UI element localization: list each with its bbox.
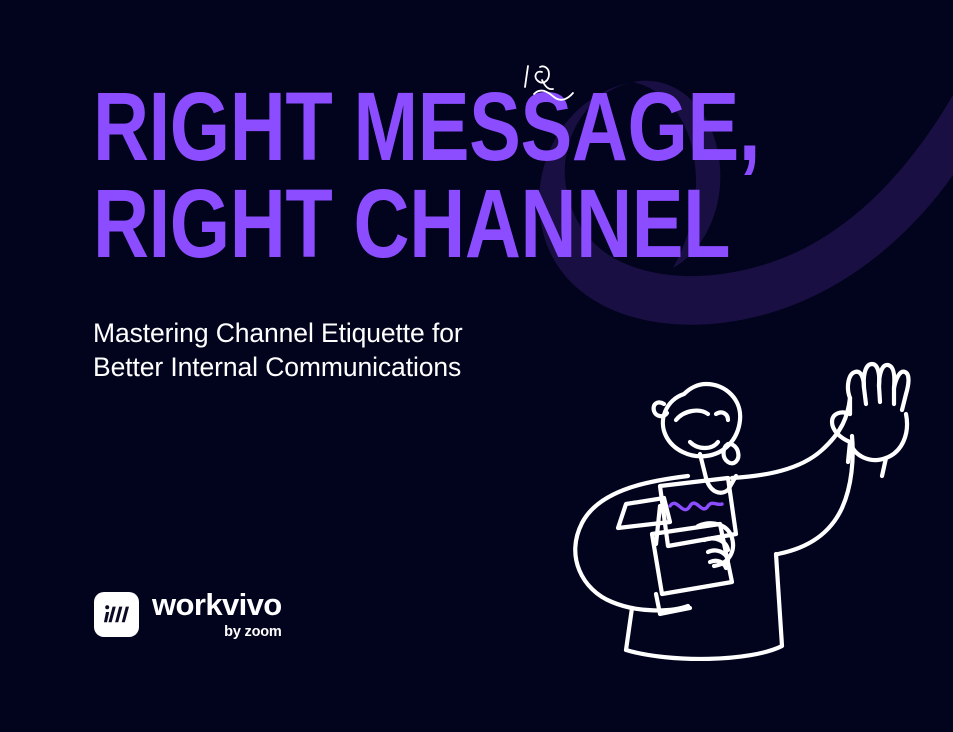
subtitle-line-1: Mastering Channel Etiquette for [93, 316, 613, 350]
person-waving-illustration [560, 358, 928, 663]
cover-slide: RIGHT MESSAGE, RIGHT CHANNEL Mastering C… [0, 0, 953, 732]
page-subtitle: Mastering Channel Etiquette for Better I… [93, 316, 613, 385]
workvivo-logo-lockup: workvivo by zoom [94, 589, 282, 640]
workvivo-logo-icon [94, 592, 139, 637]
logo-wordmark: workvivo [152, 589, 282, 620]
subtitle-line-2: Better Internal Communications [93, 350, 613, 384]
logo-byline: by zoom [224, 625, 281, 640]
document-squiggle-accent [670, 503, 722, 510]
workvivo-logo-text: workvivo by zoom [152, 589, 282, 640]
title-line-2: RIGHT CHANNEL [93, 179, 509, 268]
title-line-1: RIGHT MESSAGE, [93, 82, 509, 171]
page-title: RIGHT MESSAGE, RIGHT CHANNEL [93, 82, 613, 268]
